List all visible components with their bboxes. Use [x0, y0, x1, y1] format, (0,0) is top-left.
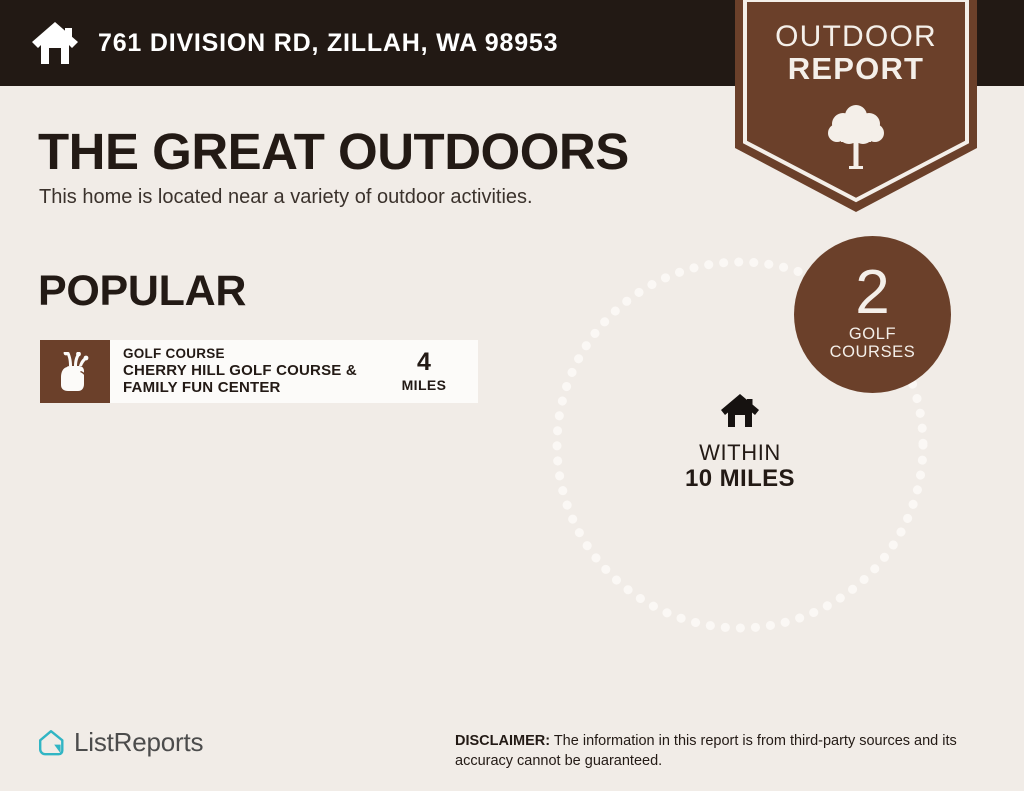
poi-distance: 4 MILES	[374, 340, 478, 403]
radius-within-label: WITHIN	[540, 441, 940, 466]
radius-miles-label: 10 MILES	[540, 466, 940, 493]
home-icon	[30, 20, 80, 66]
page-subtitle: This home is located near a variety of o…	[39, 186, 533, 209]
tree-icon	[827, 100, 885, 172]
outdoor-report-badge: OUTDOOR REPORT	[735, 0, 977, 212]
listreports-house-icon	[36, 728, 66, 758]
golf-bag-icon	[40, 340, 110, 403]
page-title: THE GREAT OUTDOORS	[38, 122, 629, 181]
poi-name-line2: FAMILY FUN CENTER	[123, 379, 357, 397]
property-address: 761 DIVISION RD, ZILLAH, WA 98953	[98, 29, 558, 58]
count-label-line2: COURSES	[830, 343, 916, 361]
listreports-logo[interactable]: ListReports	[36, 727, 203, 758]
listreports-brand-text: ListReports	[74, 727, 203, 758]
golf-course-count-badge: 2 GOLF COURSES	[794, 236, 951, 393]
disclaimer-label: DISCLAIMER:	[455, 733, 550, 749]
home-icon	[720, 416, 760, 433]
list-item-body: GOLF COURSE CHERRY HILL GOLF COURSE & FA…	[110, 340, 374, 403]
poi-name-line1: CHERRY HILL GOLF COURSE &	[123, 362, 357, 380]
disclaimer: DISCLAIMER: The information in this repo…	[455, 731, 1011, 771]
count-value: 2	[855, 264, 889, 321]
radius-center-label: WITHIN 10 MILES	[540, 393, 940, 493]
poi-distance-unit: MILES	[402, 377, 447, 393]
poi-category: GOLF COURSE	[123, 346, 357, 362]
count-label-line1: GOLF	[849, 325, 896, 343]
section-title-popular: POPULAR	[38, 267, 246, 316]
count-label: GOLF COURSES	[830, 325, 916, 361]
list-item[interactable]: GOLF COURSE CHERRY HILL GOLF COURSE & FA…	[40, 340, 478, 403]
poi-distance-value: 4	[417, 350, 431, 375]
